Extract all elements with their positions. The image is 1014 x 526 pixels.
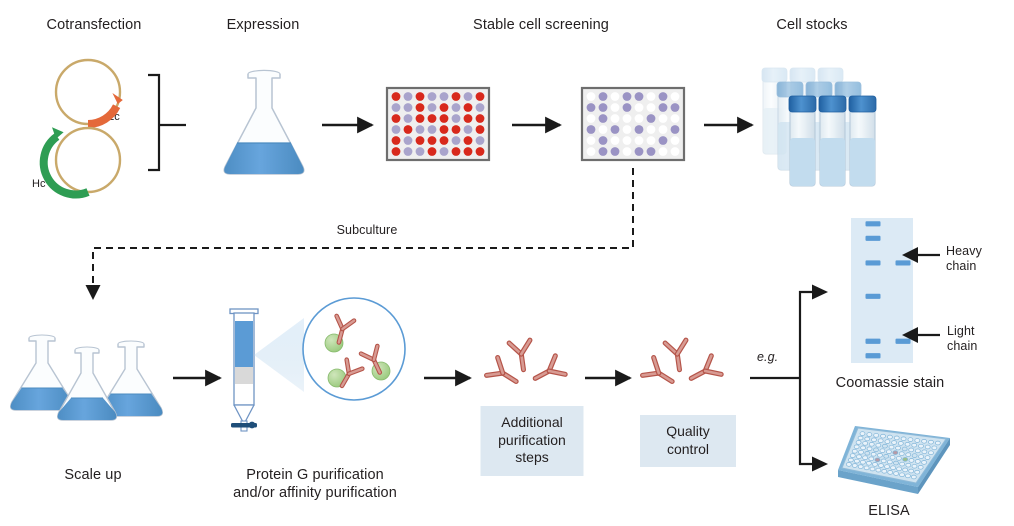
elisa-well xyxy=(911,475,916,479)
microplate-well xyxy=(452,114,461,123)
microplate-well xyxy=(587,125,596,134)
elisa-well xyxy=(860,432,865,436)
microplate-well xyxy=(392,136,401,145)
elisa-well xyxy=(882,444,887,448)
microplate-well xyxy=(599,92,608,101)
elisa-well xyxy=(906,453,911,457)
microplate-well xyxy=(440,136,449,145)
gel-band xyxy=(866,260,881,265)
microplate-well xyxy=(659,125,668,134)
erlenmeyer-flask-left xyxy=(11,335,74,410)
microplate-well xyxy=(404,136,413,145)
subculture-arrowhead xyxy=(86,285,101,300)
microplate-well xyxy=(392,103,401,112)
erlenmeyer-flask-center xyxy=(58,347,117,420)
arrowhead-heavy-chain xyxy=(902,247,918,263)
elisa-well xyxy=(863,441,868,445)
microplate-well xyxy=(404,114,413,123)
elisa-well xyxy=(899,452,904,456)
antibody-icon xyxy=(686,356,721,388)
microplate-well xyxy=(428,114,437,123)
elisa-well xyxy=(894,472,899,476)
microplate-well xyxy=(635,114,644,123)
microplate-well xyxy=(611,114,620,123)
elisa-well xyxy=(898,441,903,445)
elisa-well xyxy=(896,446,901,450)
quality-control-line-2: control xyxy=(650,441,726,459)
microplate-well xyxy=(659,147,668,156)
elisa-well xyxy=(886,450,891,454)
affinity-bead xyxy=(372,362,390,380)
microplate-well xyxy=(659,136,668,145)
elisa-well xyxy=(879,464,884,468)
elisa-well xyxy=(900,473,905,477)
elisa-well xyxy=(889,445,894,449)
microplate-well xyxy=(392,92,401,101)
elisa-well xyxy=(869,457,874,461)
microplate-well xyxy=(428,147,437,156)
microplate-well xyxy=(464,92,473,101)
microplate-well xyxy=(416,114,425,123)
arrowhead-to-elisa xyxy=(812,457,828,472)
gel-band xyxy=(866,353,881,358)
elisa-well xyxy=(893,451,898,455)
microplate-well xyxy=(476,147,485,156)
elisa-well xyxy=(854,445,859,449)
elisa-well xyxy=(885,465,890,469)
elisa-well xyxy=(887,460,892,464)
elisa-well xyxy=(900,462,905,466)
elisa-well xyxy=(873,448,878,452)
elisa-well xyxy=(905,442,910,446)
quality-control-line-1: Quality xyxy=(650,423,726,441)
elisa-well xyxy=(922,461,927,465)
microplate-well xyxy=(587,136,596,145)
elisa-well xyxy=(928,451,933,455)
elisa-well xyxy=(922,450,927,454)
heavy-chain-line-1: Heavy xyxy=(946,244,982,259)
elisa-well xyxy=(906,463,911,467)
elisa-well xyxy=(865,437,870,441)
microplate-well xyxy=(476,92,485,101)
elisa-well xyxy=(884,454,889,458)
microplate-well xyxy=(392,114,401,123)
magnification-circle xyxy=(303,298,405,400)
elisa-well xyxy=(876,468,881,472)
microplate-well xyxy=(635,136,644,145)
stage-label-expression: Expression xyxy=(227,17,300,35)
elisa-well xyxy=(928,440,933,444)
label-box-additional-purification: Additional purification steps xyxy=(481,406,584,476)
elisa-well xyxy=(885,440,890,444)
subculture-label: Subculture xyxy=(337,223,398,238)
elisa-well xyxy=(877,453,882,457)
protein-g-line-2: and/or affinity purification xyxy=(233,485,397,503)
plasmid-label-lc: Lc xyxy=(108,111,120,124)
antibody-icon xyxy=(665,340,690,371)
microplate-well xyxy=(476,136,485,145)
elisa-well xyxy=(876,443,881,447)
elisa-well xyxy=(915,449,920,453)
elisa-well xyxy=(846,462,851,466)
microplate-well xyxy=(659,92,668,101)
antibody-icon xyxy=(487,358,522,391)
additional-purification-line-3: steps xyxy=(491,449,574,467)
elisa-well xyxy=(878,439,883,443)
elisa-well xyxy=(902,447,907,451)
microplate-well xyxy=(404,103,413,112)
gel-annotation-heavy-chain: Heavy chain xyxy=(946,244,982,274)
protein-g-line-1: Protein G purification xyxy=(233,467,397,485)
plasmid-merge-bracket xyxy=(148,75,186,170)
elisa-well xyxy=(890,455,895,459)
microplate-well xyxy=(647,147,656,156)
microplate-well xyxy=(416,125,425,134)
microplate-well xyxy=(452,103,461,112)
elisa-well xyxy=(869,442,874,446)
elisa-well xyxy=(903,468,908,472)
elisa-well xyxy=(935,441,940,445)
microplate-well xyxy=(452,136,461,145)
microplate-well xyxy=(404,92,413,101)
elisa-well xyxy=(848,458,853,462)
microplate-well xyxy=(392,125,401,134)
microplate-well xyxy=(464,136,473,145)
antibody-icon xyxy=(643,358,678,391)
microplate-well xyxy=(416,103,425,112)
microplate-well xyxy=(587,92,596,101)
microplate-well xyxy=(611,103,620,112)
elisa-well xyxy=(856,441,861,445)
microplate-well xyxy=(647,114,656,123)
microplate-well xyxy=(428,125,437,134)
arrowhead-light-chain xyxy=(902,327,918,343)
microplate-well xyxy=(671,147,680,156)
microplate-well xyxy=(623,147,632,156)
gel-band xyxy=(866,294,881,299)
microplate-well xyxy=(476,114,485,123)
elisa-well xyxy=(919,455,924,459)
stage-label-cotransfection: Cotransfection xyxy=(47,17,142,35)
scale-up-flasks xyxy=(11,335,163,420)
elisa-well xyxy=(892,441,897,445)
elisa-well xyxy=(887,435,892,439)
elisa-well xyxy=(915,439,920,443)
elisa-well xyxy=(871,452,876,456)
affinity-bead xyxy=(325,334,343,352)
microplate-well xyxy=(611,147,620,156)
eg-branch-connector xyxy=(750,292,815,464)
elisa-well xyxy=(901,437,906,441)
gel-sample-lane xyxy=(896,260,911,344)
coomassie-gel xyxy=(851,218,913,363)
chromatography-column xyxy=(230,309,258,431)
stage-label-protein-g-purification: Protein G purification and/or affinity p… xyxy=(233,467,397,502)
elisa-well xyxy=(860,460,865,464)
microplate-well xyxy=(659,103,668,112)
microplate-well xyxy=(599,147,608,156)
microplate-well xyxy=(440,147,449,156)
elisa-wells xyxy=(846,432,940,479)
microplate-well xyxy=(428,136,437,145)
gel-band xyxy=(896,260,911,265)
stage-label-stable-cell-screening: Stable cell screening xyxy=(473,17,609,35)
elisa-well xyxy=(863,456,868,460)
stage-label-cell-stocks: Cell stocks xyxy=(776,17,847,35)
elisa-well xyxy=(897,467,902,471)
elisa-well xyxy=(908,438,913,442)
workflow-diagram: Cotransfection Expression Stable cell sc… xyxy=(0,0,1014,526)
microplate-well xyxy=(440,114,449,123)
arrowhead-to-coomassie xyxy=(812,285,828,300)
elisa-well xyxy=(909,458,914,462)
elisa-well xyxy=(854,459,859,463)
microplate-well xyxy=(671,92,680,101)
microplate-well xyxy=(464,114,473,123)
elisa-well xyxy=(882,469,887,473)
microplate-well xyxy=(464,125,473,134)
microplate-well xyxy=(464,147,473,156)
elisa-well xyxy=(932,446,937,450)
elisa-well xyxy=(852,449,857,453)
microplate-well xyxy=(440,103,449,112)
elisa-well xyxy=(867,447,872,451)
antibody-icon xyxy=(509,340,534,371)
light-chain-line-1: Light xyxy=(947,324,977,339)
elisa-well xyxy=(915,470,920,474)
additional-purification-line-2: purification xyxy=(491,432,574,450)
erlenmeyer-flask-expression xyxy=(224,70,304,174)
microplate-well xyxy=(599,103,608,112)
microplate-well xyxy=(671,136,680,145)
elisa-well xyxy=(858,436,863,440)
microplate-well xyxy=(416,136,425,145)
microplate-well xyxy=(635,147,644,156)
microplate-well xyxy=(440,92,449,101)
microplate-well xyxy=(647,103,656,112)
microplate-well xyxy=(404,147,413,156)
microplate-well xyxy=(428,92,437,101)
microplate-well xyxy=(599,114,608,123)
microplate-well xyxy=(647,136,656,145)
microplate-well xyxy=(416,92,425,101)
gel-band xyxy=(866,236,881,241)
elisa-well xyxy=(870,467,875,471)
microplate-well xyxy=(464,103,473,112)
elisa-well xyxy=(888,471,893,475)
gel-annotation-light-chain: Light chain xyxy=(947,324,977,354)
elisa-well xyxy=(925,456,930,460)
microplate-well xyxy=(659,114,668,123)
elisa-well xyxy=(850,454,855,458)
elisa-well xyxy=(866,461,871,465)
plasmid-label-hc: Hc xyxy=(32,178,46,191)
elisa-well xyxy=(922,439,927,443)
microplate-well xyxy=(671,103,680,112)
antibody-cluster-quality-control xyxy=(643,340,722,390)
microplate-well xyxy=(416,147,425,156)
gel-ladder-lane xyxy=(866,221,881,358)
elisa-well xyxy=(867,433,872,437)
gel-annotation-arrows xyxy=(913,255,940,335)
microplate-well xyxy=(404,125,413,134)
elisa-well xyxy=(864,466,869,470)
eg-label: e.g. xyxy=(757,350,778,365)
gel-band xyxy=(896,339,911,344)
elisa-well xyxy=(912,464,917,468)
label-box-quality-control: Quality control xyxy=(640,415,736,467)
stage-label-scale-up: Scale up xyxy=(64,467,121,485)
antibody-cluster-additional-purification xyxy=(487,340,566,390)
microplate-well xyxy=(671,125,680,134)
stage-label-elisa: ELISA xyxy=(868,503,910,521)
erlenmeyer-flask-right xyxy=(100,341,163,416)
elisa-well xyxy=(865,451,870,455)
elisa-well xyxy=(912,443,917,447)
elisa-well xyxy=(905,474,910,478)
microplate-well xyxy=(428,103,437,112)
microplate-wells-2 xyxy=(587,92,680,156)
microplate-well xyxy=(599,136,608,145)
cryovial-stack xyxy=(762,68,876,186)
gel-band xyxy=(866,339,881,344)
elisa-well xyxy=(861,446,866,450)
antibody-icon xyxy=(530,356,565,388)
microplate-well xyxy=(611,136,620,145)
microplate-well xyxy=(452,125,461,134)
elisa-well xyxy=(909,469,914,473)
microplate-well xyxy=(587,103,596,112)
elisa-well xyxy=(891,466,896,470)
stage-label-coomassie-stain: Coomassie stain xyxy=(836,375,945,393)
microplate-well xyxy=(452,92,461,101)
elisa-well xyxy=(912,454,917,458)
elisa-plate xyxy=(838,426,950,494)
microplate-well xyxy=(611,92,620,101)
microplate-well xyxy=(476,103,485,112)
additional-purification-line-1: Additional xyxy=(491,414,574,432)
elisa-well xyxy=(858,465,863,469)
microplate-well xyxy=(623,92,632,101)
microplate-well xyxy=(476,125,485,134)
microplate-well xyxy=(647,125,656,134)
microplate-well xyxy=(599,125,608,134)
antibody-icon xyxy=(361,346,388,376)
microplate-selected-clones xyxy=(582,88,684,160)
antibody-icon xyxy=(330,316,354,345)
elisa-well xyxy=(918,465,923,469)
microplate-well xyxy=(623,114,632,123)
magnification-cone xyxy=(254,318,304,392)
elisa-well xyxy=(915,460,920,464)
elisa-well xyxy=(881,434,886,438)
elisa-well xyxy=(856,455,861,459)
elisa-well xyxy=(859,450,864,454)
antibody-icon xyxy=(334,360,362,391)
heavy-chain-line-2: chain xyxy=(946,259,982,274)
microplate-well xyxy=(623,103,632,112)
elisa-well xyxy=(893,461,898,465)
microplate-well xyxy=(587,147,596,156)
microplate-well xyxy=(671,114,680,123)
elisa-well xyxy=(880,449,885,453)
microplate-wells-1 xyxy=(392,92,485,156)
microplate-well xyxy=(635,92,644,101)
elisa-well xyxy=(872,463,877,467)
microplate-well xyxy=(611,125,620,134)
gel-band xyxy=(866,221,881,226)
microplate-well xyxy=(587,114,596,123)
microplate-well xyxy=(635,125,644,134)
elisa-well xyxy=(875,458,880,462)
elisa-well xyxy=(871,438,876,442)
elisa-well xyxy=(874,433,879,437)
elisa-well xyxy=(918,444,923,448)
elisa-well xyxy=(909,448,914,452)
plasmid-heavy-chain xyxy=(44,127,120,194)
microplate-well xyxy=(452,147,461,156)
elisa-well xyxy=(903,457,908,461)
affinity-bead xyxy=(328,369,346,387)
microplate-well xyxy=(623,125,632,134)
microplate-transfected xyxy=(387,88,489,160)
light-chain-line-2: chain xyxy=(947,339,977,354)
microplate-well xyxy=(623,136,632,145)
microplate-well xyxy=(440,125,449,134)
microplate-well xyxy=(635,103,644,112)
elisa-well xyxy=(852,464,857,468)
elisa-well xyxy=(896,456,901,460)
elisa-well xyxy=(894,436,899,440)
elisa-well xyxy=(881,459,886,463)
microplate-well xyxy=(392,147,401,156)
microplate-well xyxy=(647,92,656,101)
elisa-well xyxy=(925,445,930,449)
